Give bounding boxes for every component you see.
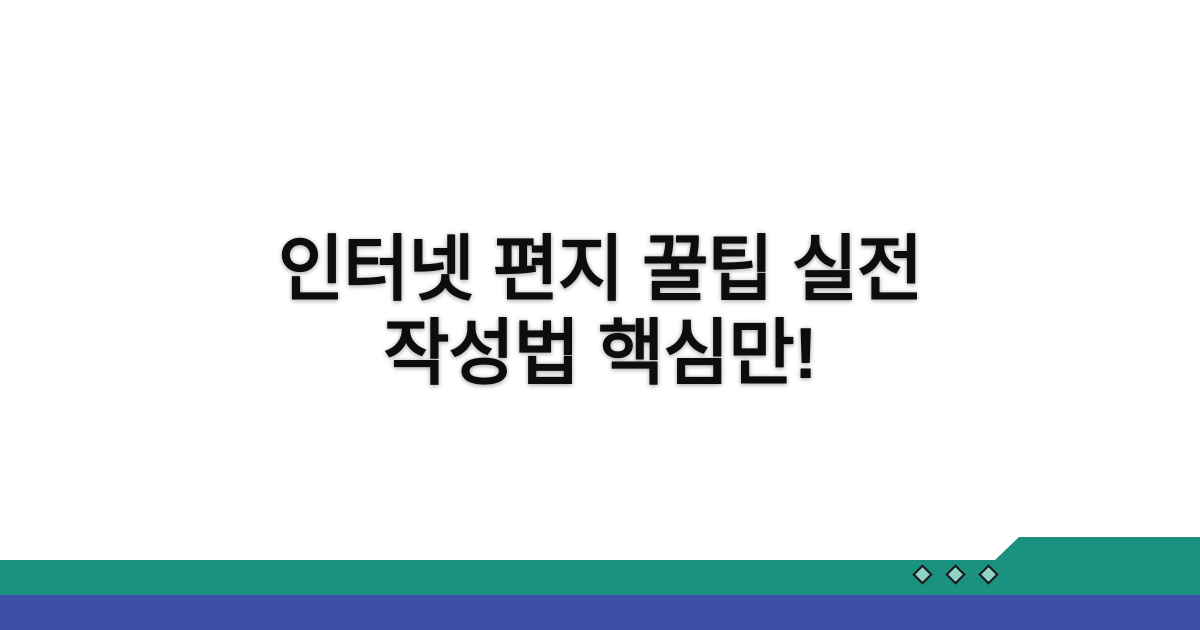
thumbnail-canvas: 인터넷 편지 꿀팁 실전 작성법 핵심만! bbox=[0, 0, 1200, 630]
diamond-ornament-3-icon bbox=[978, 564, 999, 585]
diamond-ornament-2-icon bbox=[945, 564, 966, 585]
title-line-2: 작성법 핵심만! bbox=[0, 312, 1200, 396]
blue-band bbox=[0, 595, 1200, 630]
teal-band-step bbox=[995, 537, 1200, 595]
title-line-1: 인터넷 편지 꿀팁 실전 bbox=[0, 228, 1200, 312]
diamond-ornament-group bbox=[912, 563, 999, 585]
diamond-ornament-1-icon bbox=[912, 564, 933, 585]
page-title: 인터넷 편지 꿀팁 실전 작성법 핵심만! bbox=[0, 228, 1200, 396]
